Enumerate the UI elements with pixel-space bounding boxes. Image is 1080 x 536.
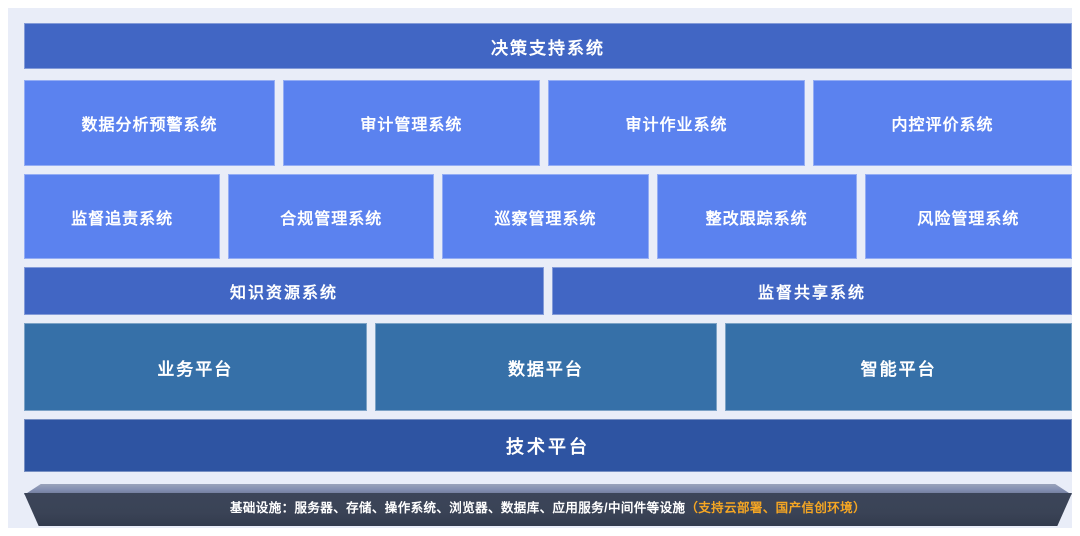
decision-support-layer: 决策支持系统 bbox=[24, 23, 1072, 69]
block-audit-management-system[interactable]: 审计管理系统 bbox=[283, 80, 540, 166]
block-knowledge-resource-system[interactable]: 知识资源系统 bbox=[24, 267, 544, 315]
block-internal-control-evaluation-system[interactable]: 内控评价系统 bbox=[813, 80, 1072, 166]
block-data-analysis-warning-system[interactable]: 数据分析预警系统 bbox=[24, 80, 275, 166]
infrastructure-text: 基础设施：服务器、存储、操作系统、浏览器、数据库、应用服务/中间件等设施（支持云… bbox=[230, 502, 866, 517]
block-compliance-management-system[interactable]: 合规管理系统 bbox=[228, 174, 434, 259]
block-technology-platform[interactable]: 技术平台 bbox=[24, 419, 1072, 472]
block-business-platform[interactable]: 业务平台 bbox=[24, 323, 367, 411]
platform-layer: 业务平台 数据平台 智能平台 bbox=[24, 323, 1072, 411]
infrastructure-text-highlight: （支持云部署、国产信创环境） bbox=[685, 501, 866, 515]
diagram-rows: 决策支持系统 数据分析预警系统 审计管理系统 审计作业系统 内控评价系统 监督追… bbox=[24, 23, 1072, 528]
block-risk-management-system[interactable]: 风险管理系统 bbox=[865, 174, 1072, 259]
infrastructure-slab-front-face: 基础设施：服务器、存储、操作系统、浏览器、数据库、应用服务/中间件等设施（支持云… bbox=[24, 493, 1072, 526]
diagram-panel: 决策支持系统 数据分析预警系统 审计管理系统 审计作业系统 内控评价系统 监督追… bbox=[8, 8, 1072, 528]
shared-service-layer: 知识资源系统 监督共享系统 bbox=[24, 267, 1072, 315]
application-layer-row-1: 数据分析预警系统 审计管理系统 审计作业系统 内控评价系统 bbox=[24, 80, 1072, 166]
architecture-diagram: 决策支持系统 数据分析预警系统 审计管理系统 审计作业系统 内控评价系统 监督追… bbox=[0, 0, 1080, 536]
block-supervision-sharing-system[interactable]: 监督共享系统 bbox=[552, 267, 1072, 315]
infrastructure-text-main: 基础设施：服务器、存储、操作系统、浏览器、数据库、应用服务/中间件等设施 bbox=[230, 501, 685, 515]
block-data-platform[interactable]: 数据平台 bbox=[375, 323, 718, 411]
block-intelligent-platform[interactable]: 智能平台 bbox=[725, 323, 1072, 411]
block-inspection-management-system[interactable]: 巡察管理系统 bbox=[442, 174, 648, 259]
infrastructure-slab: 基础设施：服务器、存储、操作系统、浏览器、数据库、应用服务/中间件等设施（支持云… bbox=[24, 484, 1072, 528]
technology-platform-layer: 技术平台 bbox=[24, 419, 1072, 472]
block-audit-operation-system[interactable]: 审计作业系统 bbox=[548, 80, 805, 166]
block-decision-support-system[interactable]: 决策支持系统 bbox=[24, 23, 1072, 69]
block-rectification-tracking-system[interactable]: 整改跟踪系统 bbox=[657, 174, 857, 259]
application-layer-row-2: 监督追责系统 合规管理系统 巡察管理系统 整改跟踪系统 风险管理系统 bbox=[24, 174, 1072, 259]
block-supervision-accountability-system[interactable]: 监督追责系统 bbox=[24, 174, 220, 259]
